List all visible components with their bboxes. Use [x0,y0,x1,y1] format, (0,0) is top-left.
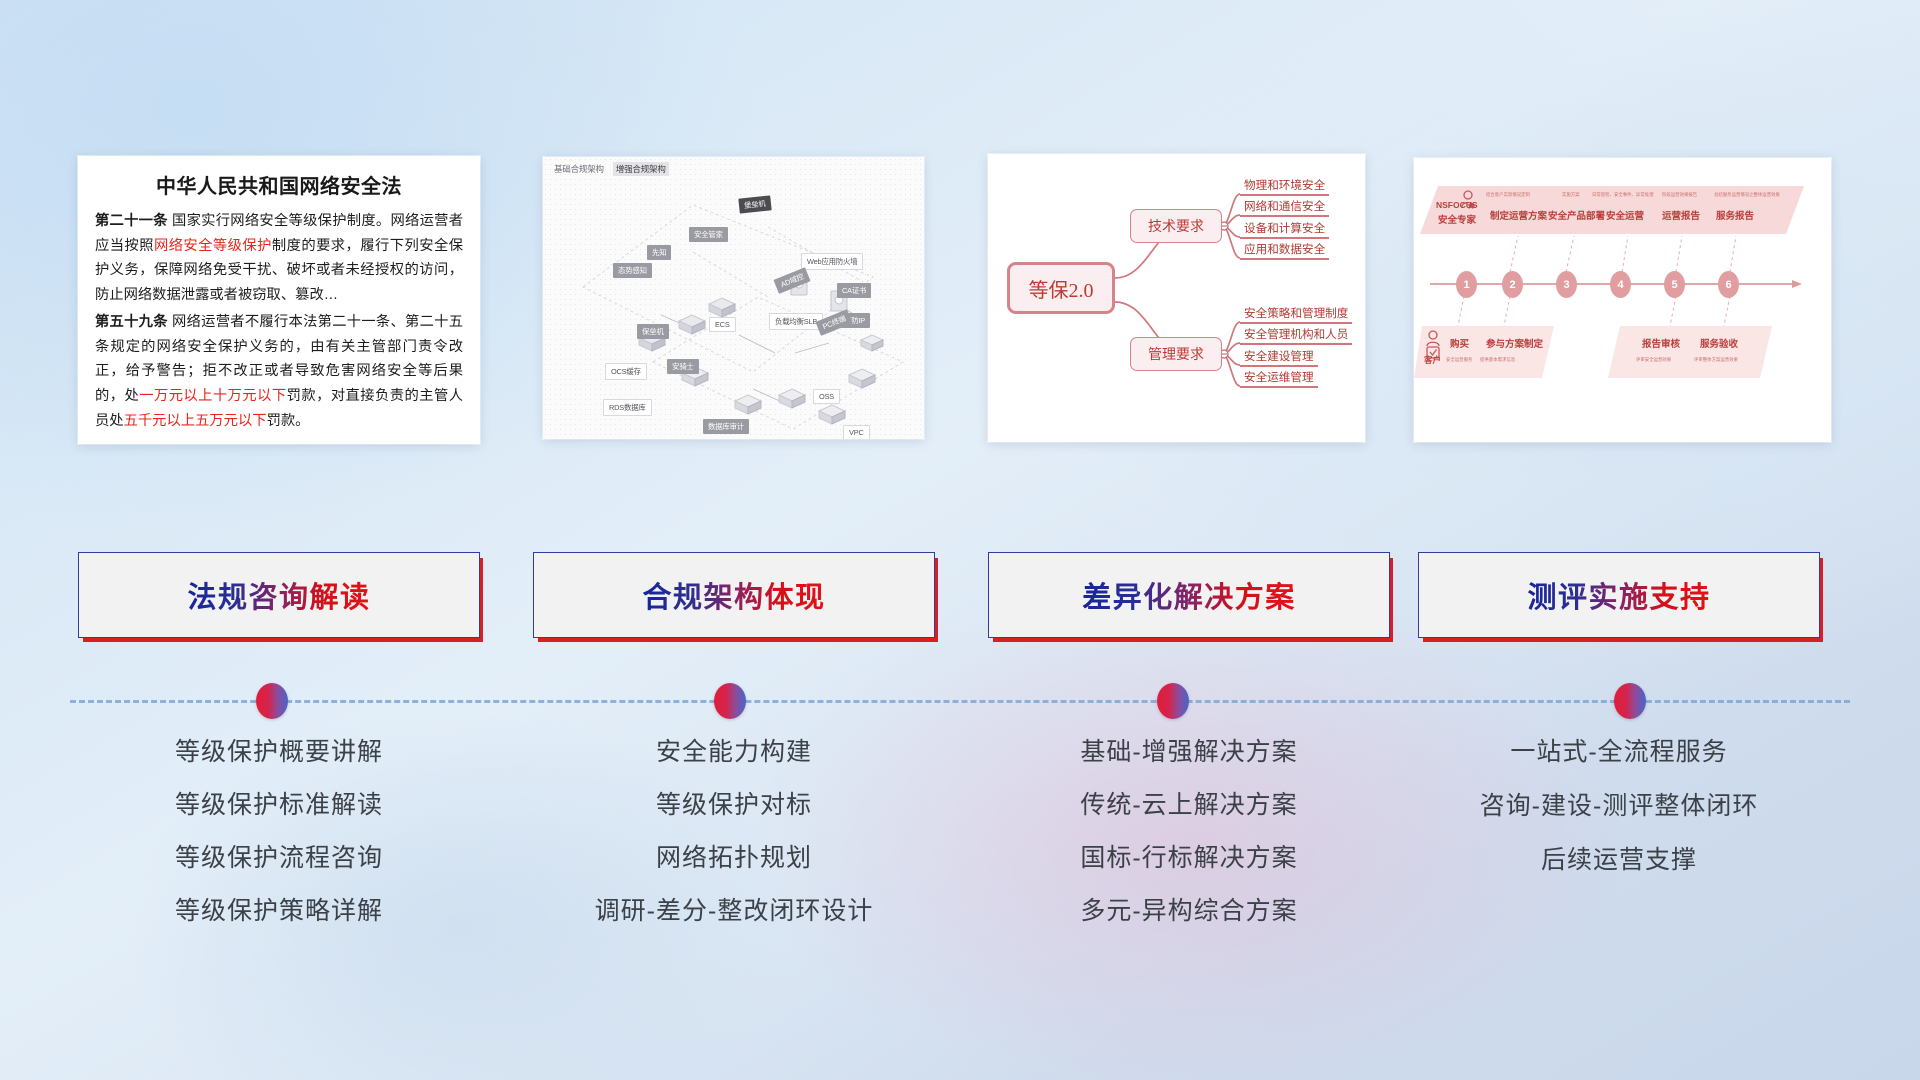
node-waf: Web应用防火墙 [801,253,863,270]
list-item: 等级保护标准解读 [78,793,480,818]
section-title-3: 差异化解决方案 [1082,574,1296,616]
timeline-dashed-line [70,700,1850,703]
bottom-step-3-label: 报告审核 [1642,336,1680,350]
list-item: 等级保护策略详解 [78,899,480,924]
top-step-2-sub: 实施方案 [1562,192,1580,198]
section-title-box-3[interactable]: 差异化解决方案 [988,552,1390,638]
poster-stage: 中华人民共和国网络安全法 第二十一条 国家实行网络安全等级保护制度。网络运营者应… [0,0,1920,1080]
card-law-document[interactable]: 中华人民共和国网络安全法 第二十一条 国家实行网络安全等级保护制度。网络运营者应… [78,156,480,444]
list-item: 国标-行标解决方案 [988,846,1390,871]
bottom-step-4-label: 服务验收 [1700,336,1738,350]
card-architecture-diagram[interactable]: 基础合规架构 增强合规架构 [543,157,924,439]
mindmap-leaf-device-compute: 设备和计算安全 [1240,223,1329,239]
list-item: 后续运营支撑 [1418,848,1820,873]
article-59-highlight-2: 五千元以上五万元以下 [124,413,267,429]
article-59-highlight-1: 一万元以上十万元以下 [139,388,286,404]
article-21-label: 第二十一条 [95,213,168,229]
list-item: 等级保护流程咨询 [78,846,480,871]
list-item: 传统-云上解决方案 [988,793,1390,818]
mindmap-leaf-policy-system: 安全策略和管理制度 [1240,308,1352,324]
top-step-4-label: 运营报告 [1662,208,1700,222]
timeline-canvas: NSFOCUS 安全专家 结合客户实际情况定制 实施方案 日常巡检、安全事件、异… [1414,158,1831,442]
list-item: 咨询-建设-测评整体闭环 [1418,794,1820,819]
mindmap-leaf-physical-env: 物理和环境安全 [1240,180,1329,196]
top-step-2-label: 安全产品部署 [1548,208,1605,222]
timeline-step-6: 6 [1718,271,1739,298]
law-article-21: 第二十一条 国家实行网络安全等级保护制度。网络运营者应当按照网络安全等级保护制度… [95,209,463,307]
section-title-2: 合规架构体现 [642,574,825,616]
top-step-1-label: 制定运营方案 [1490,208,1547,222]
node-oss: OSS [813,389,840,404]
timeline-step-5: 5 [1664,271,1685,298]
law-article-59: 第五十九条 网络运营者不履行本法第二十一条、第二十五条规定的网络安全保护义务的，… [95,310,463,433]
bottom-step-1-label: 购买 [1450,336,1469,350]
section-list-4: 一站式-全流程服务 咨询-建设-测评整体闭环 后续运营支撑 [1418,740,1820,902]
bottom-step-2-sub: 提供基本需求信息 [1480,357,1515,363]
article-59-label: 第五十九条 [95,314,168,330]
mindmap-leaf-network-comm: 网络和通信安全 [1240,201,1329,217]
list-item: 基础-增强解决方案 [988,740,1390,765]
list-item: 安全能力构建 [533,740,935,765]
node-bastion-host: 保垒机 [637,324,669,339]
list-item: 调研-差分-整改闭环设计 [533,899,935,924]
section-list-3: 基础-增强解决方案 传统-云上解决方案 国标-行标解决方案 多元-异构综合方案 [988,740,1390,952]
mindmap-leaf-construction-mgmt: 安全建设管理 [1240,351,1318,367]
node-rds-database: RDS数据库 [603,399,652,416]
timeline-step-2: 2 [1502,271,1523,298]
list-item: 等级保护对标 [533,793,935,818]
timeline-step-1: 1 [1456,271,1477,298]
mindmap-branch-management: 管理要求 [1130,337,1222,371]
node-security-butler: 安全管家 [689,227,728,242]
mindmap-leaf-ops-mgmt: 安全运维管理 [1240,372,1318,388]
list-item: 等级保护概要讲解 [78,740,480,765]
timeline-marker-1[interactable] [256,683,288,719]
node-xianzhi: 先知 [647,245,671,260]
section-title-box-4[interactable]: 测评实施支持 [1418,552,1820,638]
mindmap-canvas: 等保2.0 技术要求 管理要求 物理和环境安全 网络和通信安全 设备和计算安全 … [988,154,1365,442]
node-ecs: ECS [709,317,736,332]
mindmap-leaf-org-personnel: 安全管理机构和人员 [1240,329,1352,345]
section-list-2: 安全能力构建 等级保护对标 网络拓扑规划 调研-差分-整改闭环设计 [533,740,935,952]
top-step-1-sub: 结合客户实际情况定制 [1486,192,1530,198]
section-list-1: 等级保护概要讲解 等级保护标准解读 等级保护流程咨询 等级保护策略详解 [78,740,480,952]
node-ca-certificate: CA证书 [837,283,871,298]
timeline-step-4: 4 [1610,271,1631,298]
timeline-marker-3[interactable] [1157,683,1189,719]
bottom-step-4-sub: 评审整体方案运营效果 [1694,357,1738,363]
card-service-timeline[interactable]: NSFOCUS 安全专家 结合客户实际情况定制 实施方案 日常巡检、安全事件、异… [1414,158,1831,442]
cards-row: 中华人民共和国网络安全法 第二十一条 国家实行网络安全等级保护制度。网络运营者应… [0,0,1920,460]
top-step-5-sub: 总结服务运营情况之整体运营效果 [1714,192,1780,198]
top-step-4-sub: 阶段运营效果报告 [1662,192,1697,198]
top-step-5-label: 服务报告 [1716,208,1754,222]
node-vpc: VPC [843,425,870,439]
law-title: 中华人民共和国网络安全法 [95,170,463,199]
list-item: 一站式-全流程服务 [1418,740,1820,765]
article-21-highlight: 网络安全等级保护 [154,238,272,254]
timeline-marker-2[interactable] [714,683,746,719]
mindmap-branch-technical: 技术要求 [1130,209,1222,243]
customer-label: 客户 [1424,354,1441,366]
section-title-box-1[interactable]: 法规咨询解读 [78,552,480,638]
node-anqishi: 安骑士 [667,359,699,374]
expert-label-line2: 安全专家 [1438,212,1476,226]
timeline-step-3: 3 [1556,271,1577,298]
mindmap-leaf-app-data: 应用和数据安全 [1240,244,1329,260]
expert-label-line1: NSFOCUS [1436,200,1478,210]
list-item: 网络拓扑规划 [533,846,935,871]
bottom-step-3-sub: 评审安全运营效果 [1636,357,1671,363]
bottom-step-2-label: 参与方案制定 [1486,336,1543,350]
mindmap-root: 等保2.0 [1007,262,1115,314]
section-title-4: 测评实施支持 [1527,574,1710,616]
top-step-3-label: 安全运营 [1606,208,1644,222]
node-ocs-cache: OCS缓存 [605,363,647,380]
law-body: 中华人民共和国网络安全法 第二十一条 国家实行网络安全等级保护制度。网络运营者应… [78,156,480,443]
section-title-box-2[interactable]: 合规架构体现 [533,552,935,638]
architecture-canvas: 基础合规架构 增强合规架构 [543,157,924,439]
timeline-marker-4[interactable] [1614,683,1646,719]
list-item: 多元-异构综合方案 [988,899,1390,924]
article-59-text-c: 罚款。 [267,413,310,429]
node-situational-awareness: 态势感知 [613,263,652,278]
bottom-step-1-sub: 安全运营服务 [1446,357,1472,363]
top-step-3-sub: 日常巡检、安全事件、异常处理 [1592,192,1653,198]
card-mindmap[interactable]: 等保2.0 技术要求 管理要求 物理和环境安全 网络和通信安全 设备和计算安全 … [988,154,1365,442]
node-database-audit: 数据库审计 [703,419,749,434]
architecture-cubes [543,157,924,439]
section-title-1: 法规咨询解读 [187,574,370,616]
